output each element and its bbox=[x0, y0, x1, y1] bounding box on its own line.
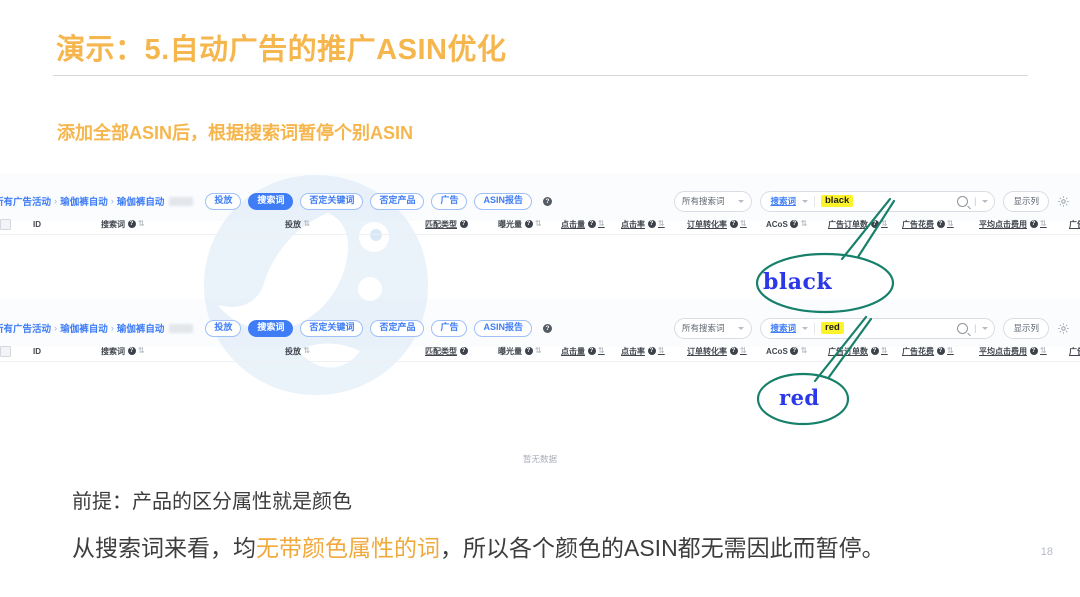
col-ctr: 点击率?⇅ bbox=[621, 219, 687, 230]
chevron-down-icon bbox=[802, 200, 808, 203]
col-label: 曝光量 bbox=[498, 219, 522, 230]
sort-icon[interactable]: ⇅ bbox=[740, 347, 747, 355]
col-acos: ACoS?⇅ bbox=[766, 220, 828, 229]
search-input-1[interactable]: black bbox=[821, 195, 853, 207]
info-icon[interactable]: ? bbox=[937, 347, 945, 355]
info-icon[interactable]: ? bbox=[588, 347, 596, 355]
col-label: 匹配类型 bbox=[425, 346, 457, 357]
page-title: 演示：5.自动广告的推广ASIN优化 bbox=[56, 26, 506, 68]
search-input-2[interactable]: red bbox=[821, 322, 844, 334]
breadcrumb-root[interactable]: 所有广告活动 bbox=[0, 321, 51, 335]
table-header-1: ID 搜索词?⇅ 投放⇅ 匹配类型? 曝光量?⇅ 点击量?⇅ 点击率?⇅ 订单转… bbox=[0, 213, 1080, 235]
divider bbox=[814, 323, 815, 334]
col-conversion-rate: 订单转化率?⇅ bbox=[687, 219, 766, 230]
sort-icon[interactable]: ⇅ bbox=[801, 347, 808, 355]
sort-icon[interactable]: ⇅ bbox=[138, 220, 145, 228]
col-label: 搜索词 bbox=[101, 346, 125, 357]
info-icon[interactable]: ? bbox=[790, 347, 798, 355]
info-icon[interactable]: ? bbox=[730, 347, 738, 355]
annotation-red-label: red bbox=[779, 385, 820, 410]
col-search-term: 搜索词?⇅ bbox=[101, 346, 285, 357]
help-icon[interactable]: ? bbox=[543, 197, 552, 206]
info-icon[interactable]: ? bbox=[648, 220, 656, 228]
scope-select-1[interactable]: 所有搜索词 bbox=[674, 191, 753, 212]
col-ad-spend: 广告花费?⇅ bbox=[902, 346, 979, 357]
info-icon[interactable]: ? bbox=[790, 220, 798, 228]
sort-icon[interactable]: ⇅ bbox=[1040, 347, 1047, 355]
col-search-term: 搜索词?⇅ bbox=[101, 219, 285, 230]
annotation-black-label: black bbox=[763, 269, 832, 295]
sort-icon[interactable]: ⇅ bbox=[801, 220, 808, 228]
col-label: ID bbox=[33, 220, 41, 229]
page-number: 18 bbox=[1041, 546, 1053, 558]
gear-icon[interactable] bbox=[1057, 195, 1070, 208]
select-all-checkbox-1[interactable] bbox=[0, 219, 11, 230]
col-toufang: 投放⇅ bbox=[285, 346, 425, 357]
col-match-type: 匹配类型? bbox=[425, 219, 498, 230]
breadcrumb-level3[interactable]: 瑜伽裤自动 bbox=[117, 321, 165, 335]
info-icon[interactable]: ? bbox=[460, 220, 468, 228]
col-ad-spend: 广告花费?⇅ bbox=[902, 219, 979, 230]
col-label: ID bbox=[33, 347, 41, 356]
col-label: 点击量 bbox=[561, 219, 585, 230]
display-columns-button-1[interactable]: 显示列 bbox=[1003, 191, 1049, 212]
col-label: 订单转化率 bbox=[687, 219, 727, 230]
empty-state-text: 暂无数据 bbox=[0, 453, 1080, 465]
col-label: 平均点击费用 bbox=[979, 346, 1027, 357]
breadcrumb-separator: › bbox=[54, 196, 57, 207]
breadcrumb-separator: › bbox=[54, 323, 57, 334]
sort-icon[interactable]: ⇅ bbox=[1040, 220, 1047, 228]
tab-ad[interactable]: 广告 bbox=[431, 320, 467, 337]
tab-negative-product[interactable]: 否定产品 bbox=[370, 320, 424, 337]
scope-select-label: 所有搜索词 bbox=[682, 322, 725, 334]
sort-icon[interactable]: ⇅ bbox=[947, 220, 954, 228]
help-icon[interactable]: ? bbox=[543, 324, 552, 333]
info-icon[interactable]: ? bbox=[871, 347, 879, 355]
tab-search-term[interactable]: 搜索词 bbox=[248, 193, 293, 210]
info-icon[interactable]: ? bbox=[1030, 347, 1038, 355]
tab-negative-keyword[interactable]: 否定关键词 bbox=[300, 320, 363, 337]
footer-line-1: 前提：产品的区分属性就是颜色 bbox=[72, 485, 352, 514]
sort-icon[interactable]: ⇅ bbox=[658, 347, 665, 355]
divider: | bbox=[974, 196, 976, 206]
col-id: ID bbox=[33, 220, 101, 229]
info-icon[interactable]: ? bbox=[460, 347, 468, 355]
tab-negative-product[interactable]: 否定产品 bbox=[370, 193, 424, 210]
sort-icon[interactable]: ⇅ bbox=[138, 347, 145, 355]
col-avg-cpc: 平均点击费用?⇅ bbox=[979, 346, 1069, 357]
chevron-down-icon bbox=[738, 327, 744, 330]
info-icon[interactable]: ? bbox=[937, 220, 945, 228]
toolbar-right-2: 所有搜索词 搜索词 red | 显示列 bbox=[674, 318, 1070, 339]
search-icon[interactable] bbox=[957, 196, 968, 207]
sort-icon[interactable]: ⇅ bbox=[881, 347, 888, 355]
sort-icon[interactable]: ⇅ bbox=[598, 220, 605, 228]
breadcrumb-1[interactable]: 所有广告活动 › 瑜伽裤自动 › 瑜伽裤自动 bbox=[0, 194, 193, 208]
col-label: 搜索词 bbox=[101, 219, 125, 230]
footer-line2-part1: 从搜索词来看，均 bbox=[72, 535, 256, 561]
embedded-screenshot: 所有广告活动 › 瑜伽裤自动 › 瑜伽裤自动 投放 搜索词 否定关键词 否定产品… bbox=[0, 173, 1080, 473]
col-conversion-rate: 订单转化率?⇅ bbox=[687, 346, 766, 357]
col-clicks: 点击量?⇅ bbox=[561, 219, 621, 230]
breadcrumb-redacted bbox=[169, 197, 193, 206]
scope-select-label: 所有搜索词 bbox=[682, 195, 725, 207]
tab-asin-report[interactable]: ASIN报告 bbox=[474, 320, 532, 337]
col-impressions: 曝光量?⇅ bbox=[498, 346, 561, 357]
col-ad-orders: 广告订单数?⇅ bbox=[828, 346, 902, 357]
col-ad-orders: 广告订单数?⇅ bbox=[828, 219, 902, 230]
page-subtitle: 添加全部ASIN后，根据搜索词暂停个别ASIN bbox=[57, 119, 413, 145]
info-icon[interactable]: ? bbox=[871, 220, 879, 228]
col-label: 点击率 bbox=[621, 346, 645, 357]
col-label: 点击率 bbox=[621, 219, 645, 230]
breadcrumb-level3[interactable]: 瑜伽裤自动 bbox=[117, 194, 165, 208]
col-impressions: 曝光量?⇅ bbox=[498, 219, 561, 230]
breadcrumb-level2[interactable]: 瑜伽裤自动 bbox=[60, 194, 108, 208]
info-icon[interactable]: ? bbox=[128, 347, 136, 355]
search-group-2[interactable]: 搜索词 red | bbox=[760, 318, 995, 339]
col-label: ACoS bbox=[766, 220, 788, 229]
col-label: ACoS bbox=[766, 347, 788, 356]
sort-icon[interactable]: ⇅ bbox=[947, 347, 954, 355]
sort-icon[interactable]: ⇅ bbox=[881, 220, 888, 228]
search-field-select-2[interactable]: 搜索词 bbox=[770, 322, 796, 334]
col-label: 投放 bbox=[285, 346, 301, 357]
breadcrumb-root[interactable]: 所有广告活动 bbox=[0, 194, 51, 208]
divider bbox=[814, 196, 815, 207]
select-all-checkbox-2[interactable] bbox=[0, 346, 11, 357]
col-ad-sales: 广告销售额?⇅ bbox=[1069, 219, 1080, 230]
col-acos: ACoS?⇅ bbox=[766, 347, 828, 356]
info-icon[interactable]: ? bbox=[525, 347, 533, 355]
scope-select-2[interactable]: 所有搜索词 bbox=[674, 318, 753, 339]
col-clicks: 点击量?⇅ bbox=[561, 346, 621, 357]
sort-icon[interactable]: ⇅ bbox=[535, 347, 542, 355]
search-icon[interactable] bbox=[957, 323, 968, 334]
col-label: 匹配类型 bbox=[425, 219, 457, 230]
chevron-down-icon bbox=[802, 327, 808, 330]
tab-toufang[interactable]: 投放 bbox=[205, 193, 241, 210]
col-label: 广告销售额 bbox=[1069, 346, 1080, 357]
col-avg-cpc: 平均点击费用?⇅ bbox=[979, 219, 1069, 230]
col-ad-sales: 广告销售额?⇅ bbox=[1069, 346, 1080, 357]
tab-asin-report[interactable]: ASIN报告 bbox=[474, 193, 532, 210]
col-match-type: 匹配类型? bbox=[425, 346, 498, 357]
tab-search-term[interactable]: 搜索词 bbox=[248, 320, 293, 337]
col-label: 广告订单数 bbox=[828, 346, 868, 357]
divider: | bbox=[974, 323, 976, 333]
info-icon[interactable]: ? bbox=[1030, 220, 1038, 228]
col-id: ID bbox=[33, 347, 101, 356]
search-group-1[interactable]: 搜索词 black | bbox=[760, 191, 995, 212]
col-label: 曝光量 bbox=[498, 346, 522, 357]
breadcrumb-separator: › bbox=[111, 323, 114, 334]
col-label: 平均点击费用 bbox=[979, 219, 1027, 230]
tab-ad[interactable]: 广告 bbox=[431, 193, 467, 210]
col-toufang: 投放⇅ bbox=[285, 219, 425, 230]
tab-bar-2: 投放 搜索词 否定关键词 否定产品 广告 ASIN报告 ? bbox=[205, 320, 552, 337]
info-icon[interactable]: ? bbox=[588, 220, 596, 228]
tab-bar-1: 投放 搜索词 否定关键词 否定产品 广告 ASIN报告 ? bbox=[205, 193, 552, 210]
col-label: 广告销售额 bbox=[1069, 219, 1080, 230]
col-label: 广告花费 bbox=[902, 219, 934, 230]
breadcrumb-level2[interactable]: 瑜伽裤自动 bbox=[60, 321, 108, 335]
breadcrumb-redacted bbox=[169, 324, 193, 333]
sort-icon[interactable]: ⇅ bbox=[658, 220, 665, 228]
sort-icon[interactable]: ⇅ bbox=[304, 347, 311, 355]
info-icon[interactable]: ? bbox=[525, 220, 533, 228]
title-divider bbox=[53, 75, 1028, 76]
info-icon[interactable]: ? bbox=[730, 220, 738, 228]
search-field-select-1[interactable]: 搜索词 bbox=[770, 195, 796, 207]
display-columns-button-2[interactable]: 显示列 bbox=[1003, 318, 1049, 339]
col-ctr: 点击率?⇅ bbox=[621, 346, 687, 357]
info-icon[interactable]: ? bbox=[648, 347, 656, 355]
breadcrumb-2[interactable]: 所有广告活动 › 瑜伽裤自动 › 瑜伽裤自动 bbox=[0, 321, 193, 335]
chevron-down-icon[interactable] bbox=[982, 200, 988, 203]
footer-line-2: 从搜索词来看，均无带颜色属性的词，所以各个颜色的ASIN都无需因此而暂停。 bbox=[72, 529, 885, 563]
toolbar-right-1: 所有搜索词 搜索词 black | 显示列 bbox=[674, 191, 1070, 212]
tab-toufang[interactable]: 投放 bbox=[205, 320, 241, 337]
info-icon[interactable]: ? bbox=[128, 220, 136, 228]
footer-line2-part2: ，所以各个颜色的ASIN都无需因此而暂停。 bbox=[440, 535, 885, 561]
sort-icon[interactable]: ⇅ bbox=[304, 220, 311, 228]
sort-icon[interactable]: ⇅ bbox=[535, 220, 542, 228]
col-label: 投放 bbox=[285, 219, 301, 230]
col-label: 广告花费 bbox=[902, 346, 934, 357]
chevron-down-icon bbox=[738, 200, 744, 203]
footer-line2-highlight: 无带颜色属性的词 bbox=[256, 535, 440, 561]
table-header-2: ID 搜索词?⇅ 投放⇅ 匹配类型? 曝光量?⇅ 点击量?⇅ 点击率?⇅ 订单转… bbox=[0, 340, 1080, 362]
col-label: 广告订单数 bbox=[828, 219, 868, 230]
col-label: 订单转化率 bbox=[687, 346, 727, 357]
col-label: 点击量 bbox=[561, 346, 585, 357]
sort-icon[interactable]: ⇅ bbox=[740, 220, 747, 228]
tab-negative-keyword[interactable]: 否定关键词 bbox=[300, 193, 363, 210]
chevron-down-icon[interactable] bbox=[982, 327, 988, 330]
sort-icon[interactable]: ⇅ bbox=[598, 347, 605, 355]
breadcrumb-separator: › bbox=[111, 196, 114, 207]
gear-icon[interactable] bbox=[1057, 322, 1070, 335]
